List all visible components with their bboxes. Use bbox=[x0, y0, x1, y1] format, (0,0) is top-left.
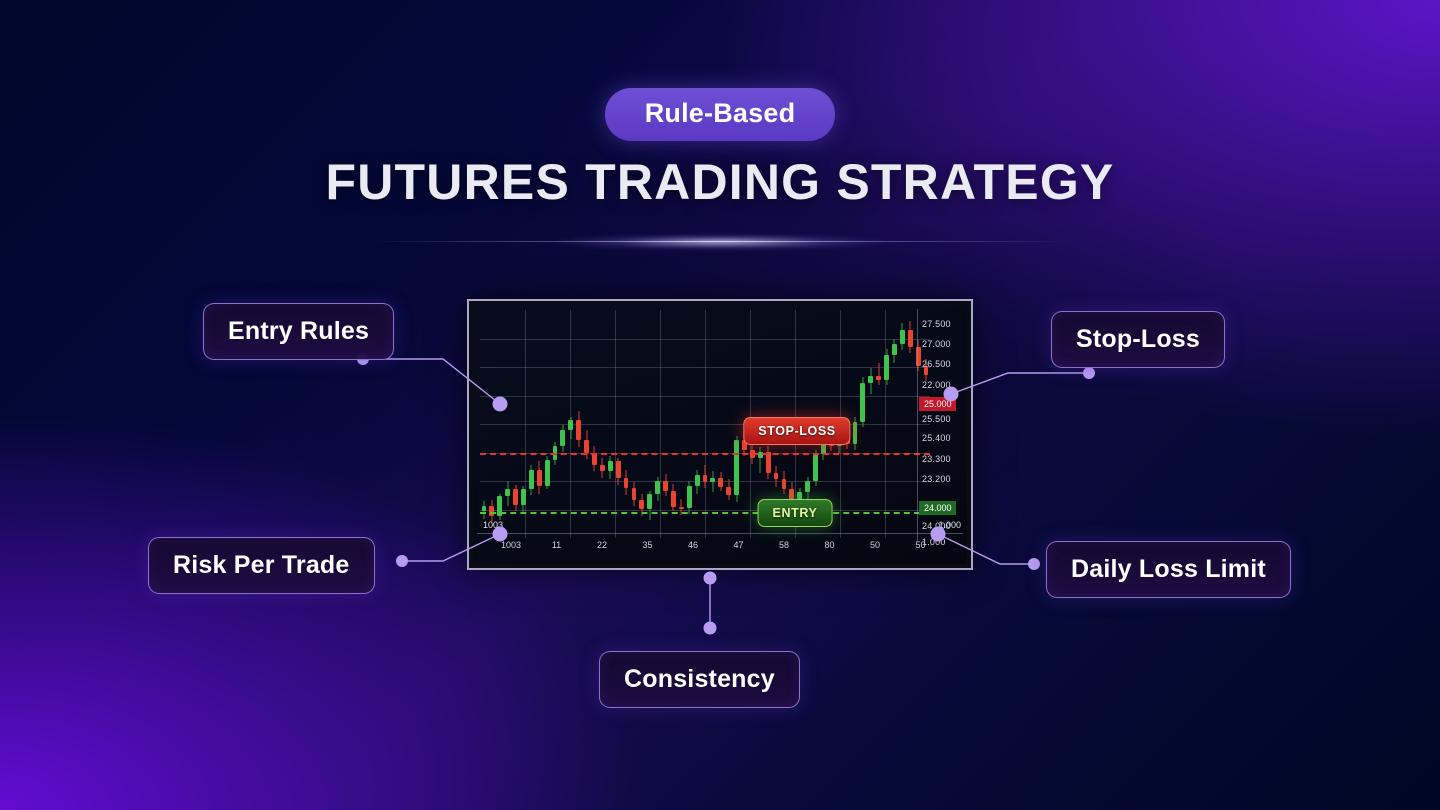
candlestick-plot[interactable] bbox=[480, 310, 930, 538]
candle-body bbox=[671, 491, 676, 507]
candle-body bbox=[545, 460, 550, 486]
candle-body bbox=[892, 344, 897, 355]
candle-body bbox=[537, 470, 542, 486]
candlestick bbox=[616, 310, 621, 538]
candle-body bbox=[782, 479, 787, 490]
candle-body bbox=[513, 489, 518, 504]
candle-body bbox=[600, 465, 605, 471]
time-axis-tick: 22 bbox=[597, 540, 607, 550]
candlestick bbox=[497, 310, 502, 538]
candle-body bbox=[805, 481, 810, 492]
time-axis-tick: 35 bbox=[642, 540, 652, 550]
candle-body bbox=[703, 475, 708, 482]
candlestick bbox=[726, 310, 731, 538]
stop-loss-badge[interactable]: STOP-LOSS bbox=[743, 417, 850, 445]
poster-canvas: Rule-Based FUTURES TRADING STRATEGY bbox=[0, 0, 1440, 810]
candlestick bbox=[545, 310, 550, 538]
candlestick bbox=[876, 310, 881, 538]
candle-body bbox=[568, 420, 573, 429]
candle-body bbox=[726, 487, 731, 495]
time-axis-tick: 1003 bbox=[501, 540, 521, 550]
candle-body bbox=[655, 481, 660, 494]
price-axis-tick: 25.400 bbox=[922, 433, 951, 443]
candlestick bbox=[679, 310, 684, 538]
price-axis-tick: 27.000 bbox=[922, 339, 951, 349]
candlestick bbox=[521, 310, 526, 538]
price-axis-tick: 25.500 bbox=[922, 414, 951, 424]
candle-body bbox=[632, 488, 637, 500]
connector-dot-consistency-top bbox=[704, 572, 717, 585]
connector-dot-daily-outer bbox=[1028, 558, 1040, 570]
price-axis-tag: 24.000 bbox=[919, 501, 956, 515]
candlestick bbox=[482, 310, 487, 538]
candle-body bbox=[482, 506, 487, 511]
candlestick bbox=[671, 310, 676, 538]
candle-body bbox=[679, 507, 684, 509]
candlestick bbox=[860, 310, 865, 538]
entry-badge[interactable]: ENTRY bbox=[758, 499, 833, 527]
candle-body bbox=[616, 461, 621, 477]
candlestick bbox=[908, 310, 913, 538]
stop-loss-level-line bbox=[480, 453, 930, 455]
callout-stop-loss[interactable]: Stop-Loss bbox=[1051, 311, 1225, 368]
callout-risk-per-trade-label: Risk Per Trade bbox=[173, 551, 350, 579]
time-axis-tick: 46 bbox=[688, 540, 698, 550]
chart-corner-label-right: 1.000 bbox=[938, 520, 961, 530]
chart-inner: 27.50027.00026.50022.00025.00025.50025.4… bbox=[473, 305, 967, 564]
connector-dot-risk-outer bbox=[396, 555, 408, 567]
candle-body bbox=[853, 422, 858, 444]
candlestick bbox=[853, 310, 858, 538]
title-divider bbox=[0, 235, 1440, 249]
candle-wick bbox=[878, 363, 879, 385]
candlestick bbox=[884, 310, 889, 538]
candlestick bbox=[710, 310, 715, 538]
price-axis: 27.50027.00026.50022.00025.00025.50025.4… bbox=[917, 309, 963, 541]
candlestick bbox=[703, 310, 708, 538]
candle-body bbox=[663, 481, 668, 490]
candlestick bbox=[600, 310, 605, 538]
candlestick bbox=[687, 310, 692, 538]
candle-body bbox=[718, 478, 723, 487]
candle-body bbox=[860, 383, 865, 422]
time-axis-tick: 50 bbox=[870, 540, 880, 550]
callout-consistency[interactable]: Consistency bbox=[599, 651, 800, 708]
candlestick bbox=[576, 310, 581, 538]
candlestick bbox=[695, 310, 700, 538]
entry-level-line bbox=[480, 512, 930, 514]
callout-entry-rules[interactable]: Entry Rules bbox=[203, 303, 394, 360]
connector-dot-consistency-bottom bbox=[704, 622, 717, 635]
candle-body bbox=[529, 470, 534, 490]
candle-body bbox=[608, 461, 613, 470]
callout-consistency-label: Consistency bbox=[624, 665, 775, 693]
candlestick bbox=[529, 310, 534, 538]
candle-body bbox=[884, 355, 889, 380]
callout-stop-loss-label: Stop-Loss bbox=[1076, 325, 1200, 353]
candlestick bbox=[553, 310, 558, 538]
callout-daily-loss-limit[interactable]: Daily Loss Limit bbox=[1046, 541, 1291, 598]
candlestick bbox=[734, 310, 739, 538]
price-axis-tick: 26.500 bbox=[922, 359, 951, 369]
page-title: FUTURES TRADING STRATEGY bbox=[0, 153, 1440, 211]
candle-body bbox=[734, 440, 739, 495]
candlestick bbox=[647, 310, 652, 538]
candlestick bbox=[718, 310, 723, 538]
candle-body bbox=[900, 330, 905, 344]
trading-chart-panel[interactable]: 27.50027.00026.50022.00025.00025.50025.4… bbox=[467, 299, 973, 570]
candlestick bbox=[663, 310, 668, 538]
candlestick bbox=[505, 310, 510, 538]
candle-body bbox=[908, 330, 913, 346]
callout-risk-per-trade[interactable]: Risk Per Trade bbox=[148, 537, 375, 594]
callout-daily-loss-limit-label: Daily Loss Limit bbox=[1071, 555, 1266, 583]
price-axis-tick: 27.500 bbox=[922, 319, 951, 329]
chart-corner-label-left: 1003 bbox=[483, 520, 503, 530]
candle-body bbox=[521, 489, 526, 504]
candle-body bbox=[813, 454, 818, 481]
candlestick bbox=[900, 310, 905, 538]
price-axis-tick: 23.200 bbox=[922, 474, 951, 484]
candlestick bbox=[489, 310, 494, 538]
candlestick bbox=[639, 310, 644, 538]
time-axis-tick: 50 bbox=[915, 540, 925, 550]
candlestick bbox=[560, 310, 565, 538]
divider-glow bbox=[555, 235, 885, 249]
candle-body bbox=[774, 473, 779, 479]
candlestick bbox=[592, 310, 597, 538]
candle-body bbox=[695, 475, 700, 486]
candlestick bbox=[868, 310, 873, 538]
candle-body bbox=[710, 478, 715, 483]
header: Rule-Based FUTURES TRADING STRATEGY bbox=[0, 0, 1440, 249]
candle-body bbox=[647, 494, 652, 509]
candle-body bbox=[560, 430, 565, 446]
candlestick bbox=[892, 310, 897, 538]
price-axis-tag: 25.000 bbox=[919, 397, 956, 411]
candle-body bbox=[576, 420, 581, 440]
candle-body bbox=[584, 440, 589, 453]
candle-body bbox=[876, 376, 881, 380]
candlestick bbox=[537, 310, 542, 538]
connector-dot-stop-loss-outer bbox=[1083, 367, 1095, 379]
candle-body bbox=[505, 489, 510, 496]
candle-body bbox=[639, 500, 644, 509]
price-axis-tick: 23.300 bbox=[922, 454, 951, 464]
callout-entry-rules-label: Entry Rules bbox=[228, 317, 369, 345]
candle-body bbox=[868, 376, 873, 383]
candlestick bbox=[655, 310, 660, 538]
time-axis-tick: 47 bbox=[733, 540, 743, 550]
candlestick bbox=[513, 310, 518, 538]
rule-based-tag: Rule-Based bbox=[605, 88, 836, 141]
candlestick bbox=[584, 310, 589, 538]
time-axis: 1003112235464758805050 bbox=[477, 533, 963, 560]
candlestick bbox=[632, 310, 637, 538]
time-axis-tick: 80 bbox=[824, 540, 834, 550]
candlestick bbox=[624, 310, 629, 538]
price-axis-tick: 22.000 bbox=[922, 380, 951, 390]
time-axis-tick: 11 bbox=[552, 540, 561, 550]
time-axis-tick: 58 bbox=[779, 540, 789, 550]
candlestick bbox=[568, 310, 573, 538]
candle-body bbox=[624, 478, 629, 489]
candle-body bbox=[687, 486, 692, 508]
candlestick bbox=[608, 310, 613, 538]
